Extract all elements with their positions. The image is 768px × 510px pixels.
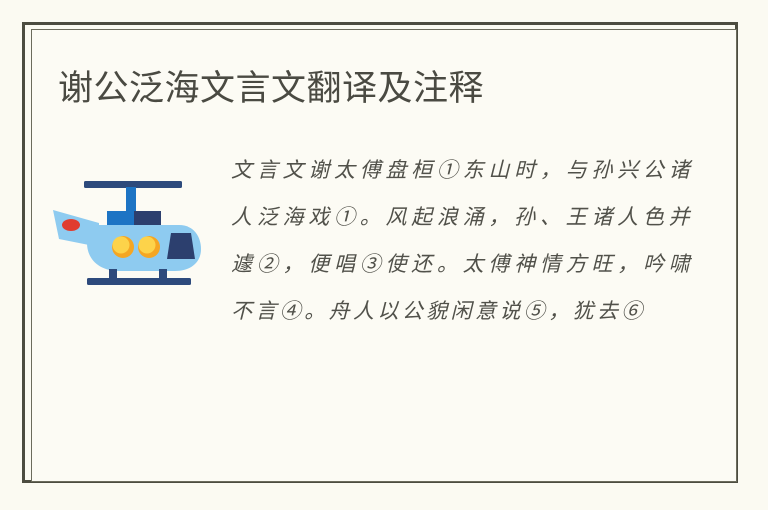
page-title: 谢公泛海文言文翻译及注释 bbox=[58, 67, 484, 111]
cabin-window-1-inner-icon bbox=[113, 237, 130, 254]
landing-skid-icon bbox=[87, 278, 191, 285]
rotor-mast-icon bbox=[126, 187, 136, 213]
article-body-text: 文言文谢太傅盘桓①东山时，与孙兴公诸人泛海戏①。风起浪涌，孙、王诸人色并遽②，便… bbox=[231, 147, 737, 335]
page-content: 谢公泛海文言文翻译及注释 bbox=[31, 29, 737, 482]
illustration-container bbox=[31, 147, 231, 285]
cabin-window-2-inner-icon bbox=[139, 237, 156, 254]
tail-light-icon bbox=[62, 219, 80, 231]
body-row: 文言文谢太傅盘桓①东山时，与孙兴公诸人泛海戏①。风起浪涌，孙、王诸人色并遽②，便… bbox=[31, 147, 737, 335]
page-root: 谢公泛海文言文翻译及注释 bbox=[0, 0, 768, 510]
cockpit-window-icon bbox=[167, 233, 195, 259]
rotor-blade-icon bbox=[84, 181, 182, 188]
helicopter-icon bbox=[51, 165, 211, 285]
